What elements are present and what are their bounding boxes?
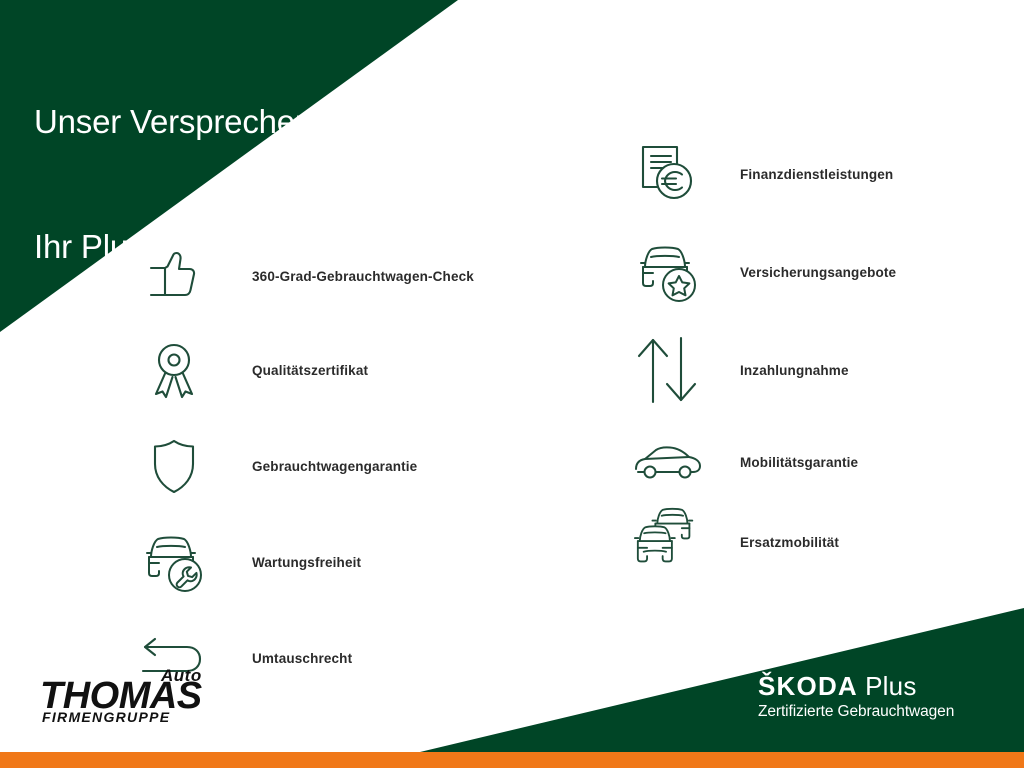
feature-label: Umtauschrecht xyxy=(252,651,352,666)
feature-label: Versicherungsangebote xyxy=(740,265,896,280)
dealer-logo-graphic: Auto THOMAS FIRMENGRUPPE xyxy=(28,664,218,726)
feature-item: Versicherungsangebote xyxy=(632,224,896,320)
brand-logo-subtitle: Zertifizierte Gebrauchtwagen xyxy=(758,702,954,722)
document-euro-icon xyxy=(632,138,704,210)
brand-logo-plus: Plus xyxy=(865,671,916,701)
feature-label: Qualitätszertifikat xyxy=(252,363,368,378)
feature-label: Gebrauchtwagengarantie xyxy=(252,459,417,474)
car-wrench-icon xyxy=(138,526,210,598)
feature-item: Wartungsfreiheit xyxy=(138,514,361,610)
brand-logo: ŠKODA Plus Zertifizierte Gebrauchtwagen xyxy=(758,672,954,722)
car-side-icon xyxy=(632,426,704,498)
feature-label: Finanzdienstleistungen xyxy=(740,167,893,182)
brand-logo-mark: ŠKODA xyxy=(758,671,858,701)
page-title-line-1: Unser Versprechen. xyxy=(34,102,322,142)
feature-item: Ersatzmobilität xyxy=(632,494,839,590)
up-down-arrows-icon xyxy=(632,334,704,406)
two-cars-icon xyxy=(632,506,704,578)
feature-label: Wartungsfreiheit xyxy=(252,555,361,570)
feature-label: Mobilitätsgarantie xyxy=(740,455,858,470)
dealer-logo: Auto THOMAS FIRMENGRUPPE xyxy=(28,664,218,726)
brand-logo-top-line: ŠKODA Plus xyxy=(758,672,954,700)
promo-banner: Unser Versprechen. Ihr Plus. 360-Grad-Ge… xyxy=(0,0,1024,768)
feature-item: Gebrauchtwagengarantie xyxy=(138,418,417,514)
dealer-logo-firmengruppe: FIRMENGRUPPE xyxy=(42,709,170,725)
car-star-icon xyxy=(632,236,704,308)
feature-item: Finanzdienstleistungen xyxy=(632,126,893,222)
feature-label: Inzahlungnahme xyxy=(740,363,849,378)
shield-icon xyxy=(138,430,210,502)
orange-accent-bar xyxy=(0,752,1024,768)
page-title: Unser Versprechen. Ihr Plus. xyxy=(34,22,322,347)
page-title-line-2: Ihr Plus. xyxy=(34,227,322,267)
feature-label: Ersatzmobilität xyxy=(740,535,839,550)
feature-item: Inzahlungnahme xyxy=(632,322,849,418)
